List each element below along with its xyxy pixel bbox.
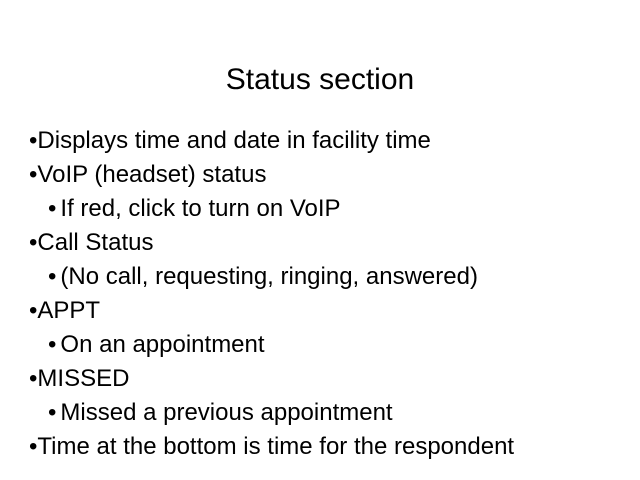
bullet-point-icon: • [48,399,56,426]
bullet-point-icon: • [48,331,56,358]
bullet-point-icon: • [48,195,56,222]
bullet-item-label: MISSED [37,365,129,392]
bullet-item: •Time at the bottom is time for the resp… [29,430,623,464]
bullet-item-label: Displays time and date in facility time [37,127,431,154]
bullet-item: •(No call, requesting, ringing, answered… [48,260,623,294]
page-title: Status section [0,61,640,99]
bullet-item-label: Missed a previous appointment [60,399,392,426]
bullet-point-icon: • [48,263,56,290]
bullet-item: •If red, click to turn on VoIP [48,192,623,226]
bullet-item-label: On an appointment [60,331,264,358]
bullet-item: •Missed a previous appointment [48,396,623,430]
bullet-item: •MISSED [29,362,623,396]
slide-canvas: Status section •Displays time and date i… [0,0,640,480]
bullet-item: •Call Status [29,226,623,260]
bullet-item-label: VoIP (headset) status [37,161,266,188]
bullet-item-label: Call Status [37,229,153,256]
bullet-item: •VoIP (headset) status [29,158,623,192]
bullet-item: •Displays time and date in facility time [29,124,623,158]
bullet-item-label: (No call, requesting, ringing, answered) [60,263,478,290]
bullet-item: •APPT [29,294,623,328]
bullet-list: •Displays time and date in facility time… [29,124,623,464]
bullet-item-label: APPT [37,297,100,324]
bullet-item-label: Time at the bottom is time for the respo… [37,433,514,460]
bullet-item-label: If red, click to turn on VoIP [60,195,340,222]
bullet-item: •On an appointment [48,328,623,362]
